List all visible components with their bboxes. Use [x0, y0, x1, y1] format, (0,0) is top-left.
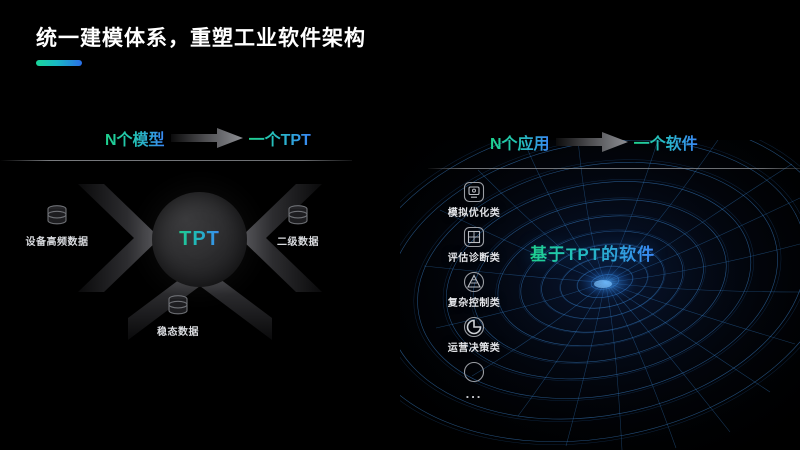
- pyramid-circle-icon-wrap: [462, 270, 486, 294]
- data-node-left[interactable]: 设备高频数据: [7, 202, 107, 248]
- slide-root: { "slide": { "title": "统一建模体系，重塑工业软件架构",…: [0, 0, 800, 450]
- right-arrow-icon: [171, 128, 243, 148]
- result-software-label: 基于TPT的软件: [530, 240, 655, 265]
- database-icon: [44, 202, 70, 228]
- right-header-to-label: 一个软件: [634, 130, 698, 154]
- right-panel: N个应用 一个软件 模拟优化类: [400, 100, 800, 450]
- page-title: 统一建模体系，重塑工业软件架构: [36, 22, 366, 52]
- right-arrow-icon: [556, 132, 628, 152]
- empty-circle-icon-wrap: [462, 360, 486, 384]
- right-header-from-label: N个应用: [490, 130, 550, 154]
- pie-donut-icon-wrap: [462, 315, 486, 339]
- data-node-bottom[interactable]: 稳态数据: [128, 292, 228, 338]
- app-item-control[interactable]: 复杂控制类: [414, 270, 534, 315]
- app-item-simulation-label: 模拟优化类: [414, 204, 534, 219]
- title-accent-bar: [36, 60, 82, 66]
- pyramid-circle-icon: [462, 270, 486, 294]
- app-item-diagnosis[interactable]: 评估诊断类: [414, 225, 534, 270]
- left-diagram-stage: TPT 设备高频数据 二级数据: [0, 170, 400, 450]
- left-header-from-label: N个模型: [105, 126, 165, 150]
- data-node-left-label: 设备高频数据: [26, 233, 89, 248]
- app-item-simulation[interactable]: 模拟优化类: [414, 180, 534, 225]
- app-item-control-label: 复杂控制类: [414, 294, 534, 309]
- database-icon: [165, 292, 191, 318]
- grid-frame-icon: [462, 225, 486, 249]
- left-panel-header: N个模型 一个TPT: [105, 126, 311, 150]
- pie-donut-icon: [462, 315, 486, 339]
- tpt-center-label: TPT: [179, 228, 220, 251]
- app-item-diagnosis-label: 评估诊断类: [414, 249, 534, 264]
- empty-circle-icon: [462, 360, 486, 384]
- left-panel: N个模型 一个TPT: [0, 100, 400, 450]
- right-panel-header: N个应用 一个软件: [490, 130, 698, 154]
- title-area: 统一建模体系，重塑工业软件架构: [36, 22, 366, 66]
- application-list: 模拟优化类 评估诊断类 复杂: [414, 180, 534, 405]
- app-item-decision[interactable]: 运营决策类: [414, 315, 534, 360]
- monitor-square-icon: [462, 180, 486, 204]
- app-item-decision-label: 运营决策类: [414, 339, 534, 354]
- tpt-center-sphere[interactable]: TPT: [152, 192, 247, 287]
- monitor-square-icon-wrap: [462, 180, 486, 204]
- data-node-bottom-label: 稳态数据: [157, 323, 199, 338]
- data-node-right[interactable]: 二级数据: [248, 202, 348, 248]
- data-node-right-label: 二级数据: [277, 233, 319, 248]
- grid-frame-icon-wrap: [462, 225, 486, 249]
- right-divider: [428, 168, 800, 169]
- database-icon: [285, 202, 311, 228]
- app-item-more-label: ...: [414, 386, 534, 401]
- app-item-more[interactable]: ...: [414, 360, 534, 405]
- left-divider: [0, 160, 352, 161]
- left-header-to-label: 一个TPT: [249, 126, 311, 150]
